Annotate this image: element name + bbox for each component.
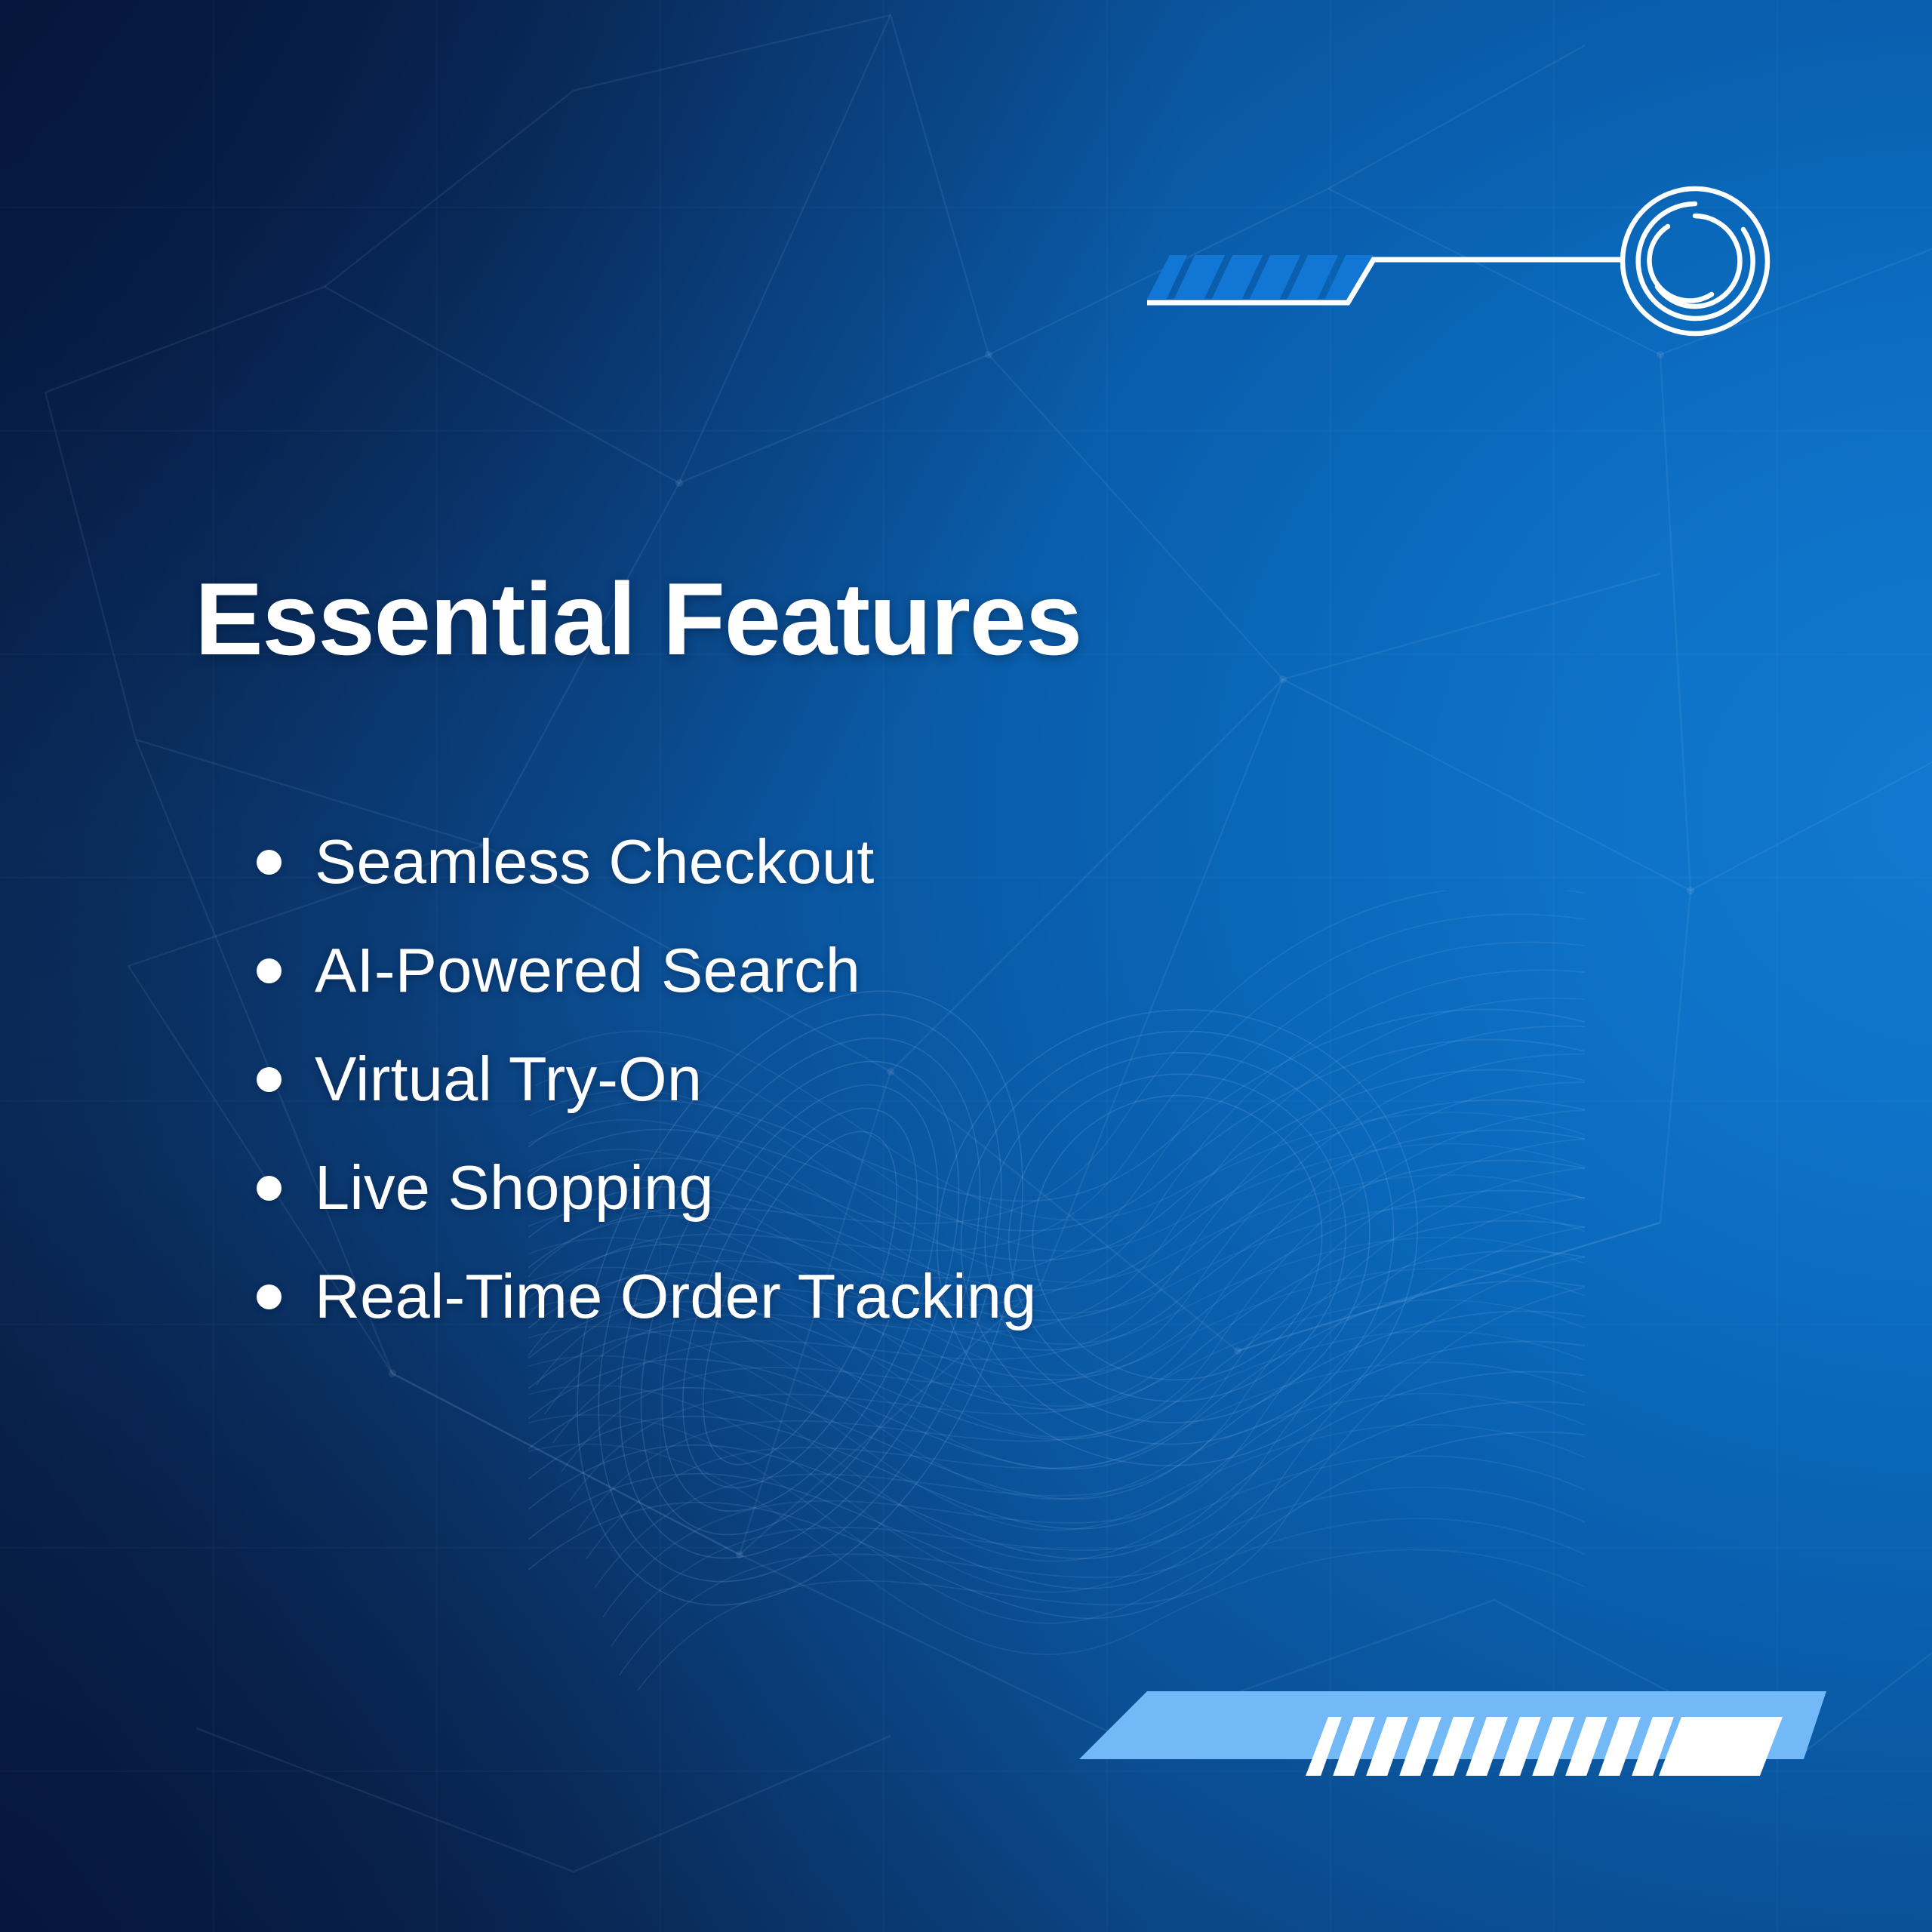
list-item: Virtual Try-On bbox=[257, 1025, 1036, 1134]
feature-label: AI-Powered Search bbox=[315, 934, 860, 1007]
feature-label: Virtual Try-On bbox=[315, 1043, 702, 1115]
list-item: AI-Powered Search bbox=[257, 916, 1036, 1025]
feature-label: Live Shopping bbox=[315, 1152, 714, 1224]
list-item: Real-Time Order Tracking bbox=[257, 1242, 1036, 1351]
feature-label: Real-Time Order Tracking bbox=[315, 1260, 1036, 1333]
feature-list: Seamless Checkout AI-Powered Search Virt… bbox=[257, 808, 1036, 1351]
slide-canvas: Essential Features Seamless Checkout AI-… bbox=[0, 0, 1932, 1932]
bullet-dot-icon bbox=[257, 958, 281, 983]
list-item: Live Shopping bbox=[257, 1134, 1036, 1242]
bullet-dot-icon bbox=[257, 1284, 281, 1309]
list-item: Seamless Checkout bbox=[257, 808, 1036, 916]
page-title: Essential Features bbox=[195, 568, 1081, 670]
bullet-dot-icon bbox=[257, 1176, 281, 1201]
slide-content: Essential Features Seamless Checkout AI-… bbox=[0, 0, 1932, 1932]
feature-label: Seamless Checkout bbox=[315, 826, 875, 898]
bullet-dot-icon bbox=[257, 1067, 281, 1092]
bullet-dot-icon bbox=[257, 850, 281, 875]
